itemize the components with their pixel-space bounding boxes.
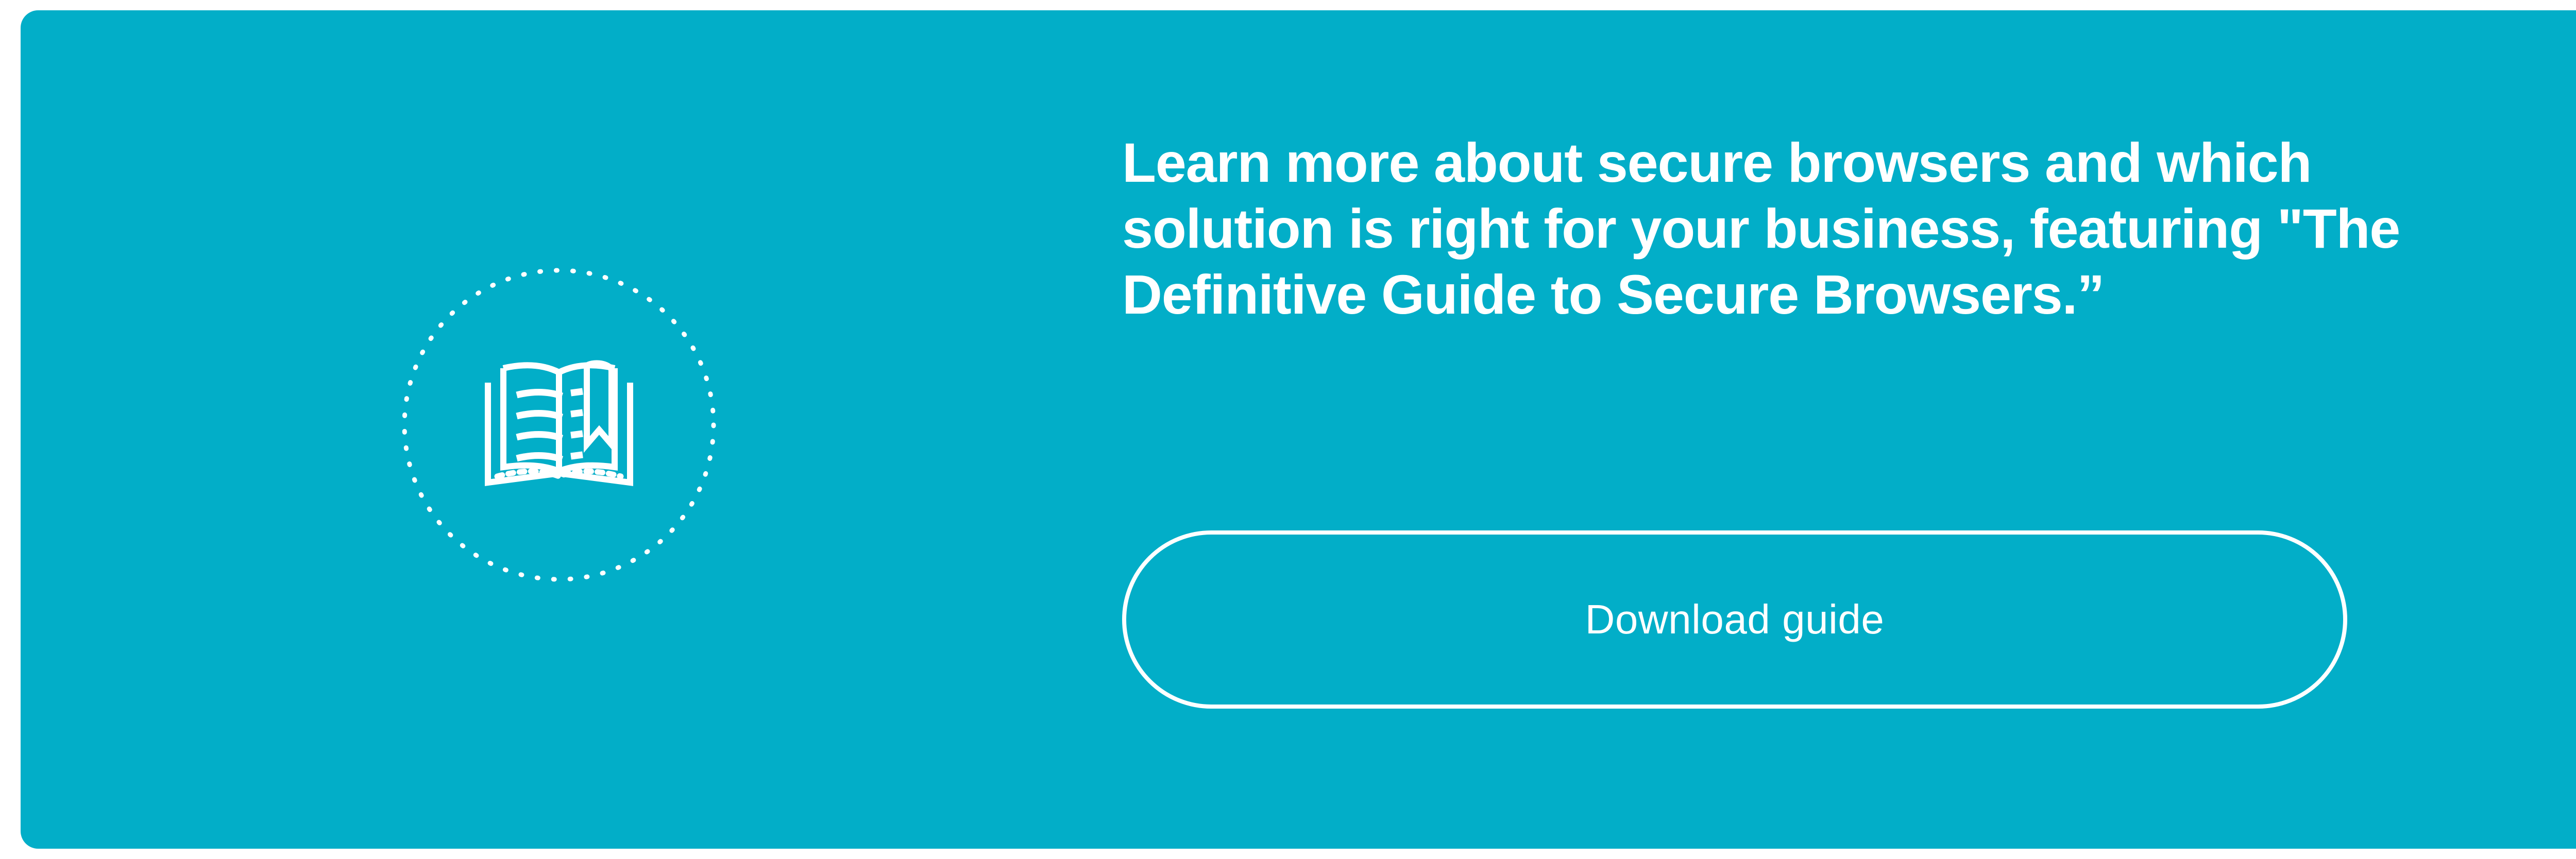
promo-headline: Learn more about secure browsers and whi… [1122, 130, 2576, 328]
promo-content-zone: Learn more about secure browsers and whi… [1122, 130, 2576, 328]
download-guide-button[interactable]: Download guide [1122, 530, 2347, 709]
promo-media-zone [384, 250, 734, 600]
promo-banner-card: Learn more about secure browsers and whi… [21, 10, 2576, 849]
open-book-with-bookmark-icon [477, 348, 641, 502]
